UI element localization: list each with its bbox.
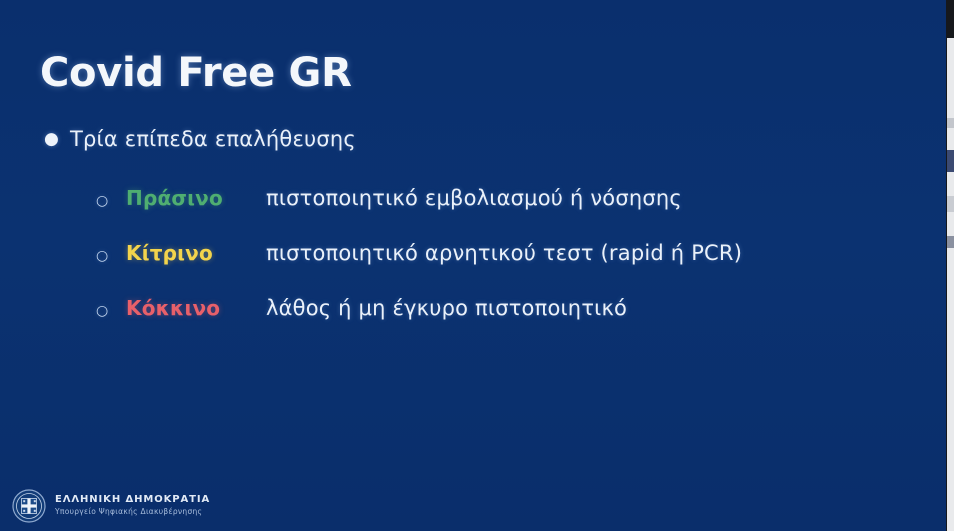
list-item: ○ Κίτρινο πιστοποιητικό αρνητικού τεστ (…	[96, 241, 742, 296]
footer-text-block: ΕΛΛΗΝΙΚΗ ΔΗΜΟΚΡΑΤΙΑ Υπουργείο Ψηφιακής Δ…	[55, 494, 210, 518]
bullet-circle-icon: ○	[96, 303, 126, 319]
background-panel-block	[947, 196, 954, 212]
footer-organization-title: ΕΛΛΗΝΙΚΗ ΔΗΜΟΚΡΑΤΙΑ	[55, 494, 210, 505]
list-item: ○ Κόκκινο λάθος ή μη έγκυρο πιστοποιητικ…	[96, 296, 742, 351]
bullet-level1-label: Τρία επίπεδα επαλήθευσης	[70, 127, 356, 151]
list-item: ○ Πράσινο πιστοποιητικό εμβολιασμού ή νό…	[96, 186, 742, 241]
bullet-circle-icon: ○	[96, 193, 126, 209]
bullet-dot-icon: ●	[44, 131, 70, 148]
background-panel-block	[947, 118, 954, 128]
bullet-level1: ● Τρία επίπεδα επαλήθευσης	[44, 127, 356, 151]
hellenic-republic-emblem-icon	[12, 489, 46, 523]
presentation-slide: Covid Free GR ● Τρία επίπεδα επαλήθευσης…	[0, 0, 946, 531]
level-description-red: λάθος ή μη έγκυρο πιστοποιητικό	[266, 296, 627, 320]
footer-logo-lockup: ΕΛΛΗΝΙΚΗ ΔΗΜΟΚΡΑΤΙΑ Υπουργείο Ψηφιακής Δ…	[12, 489, 210, 523]
slide-title: Covid Free GR	[40, 50, 352, 96]
level-description-yellow: πιστοποιητικό αρνητικού τεστ (rapid ή PC…	[266, 241, 742, 265]
level-color-label-yellow: Κίτρινο	[126, 241, 266, 265]
screen-capture: Covid Free GR ● Τρία επίπεδα επαλήθευσης…	[0, 0, 954, 531]
background-panel-block	[947, 150, 954, 172]
background-app-panel	[947, 38, 954, 531]
level-color-label-red: Κόκκινο	[126, 296, 266, 320]
bullet-circle-icon: ○	[96, 248, 126, 264]
footer-organization-subtitle: Υπουργείο Ψηφιακής Διακυβέρνησης	[55, 507, 210, 516]
level-description-green: πιστοποιητικό εμβολιασμού ή νόσησης	[266, 186, 682, 210]
background-panel-block	[947, 236, 954, 248]
verification-levels-list: ○ Πράσινο πιστοποιητικό εμβολιασμού ή νό…	[96, 186, 742, 351]
level-color-label-green: Πράσινο	[126, 186, 266, 210]
